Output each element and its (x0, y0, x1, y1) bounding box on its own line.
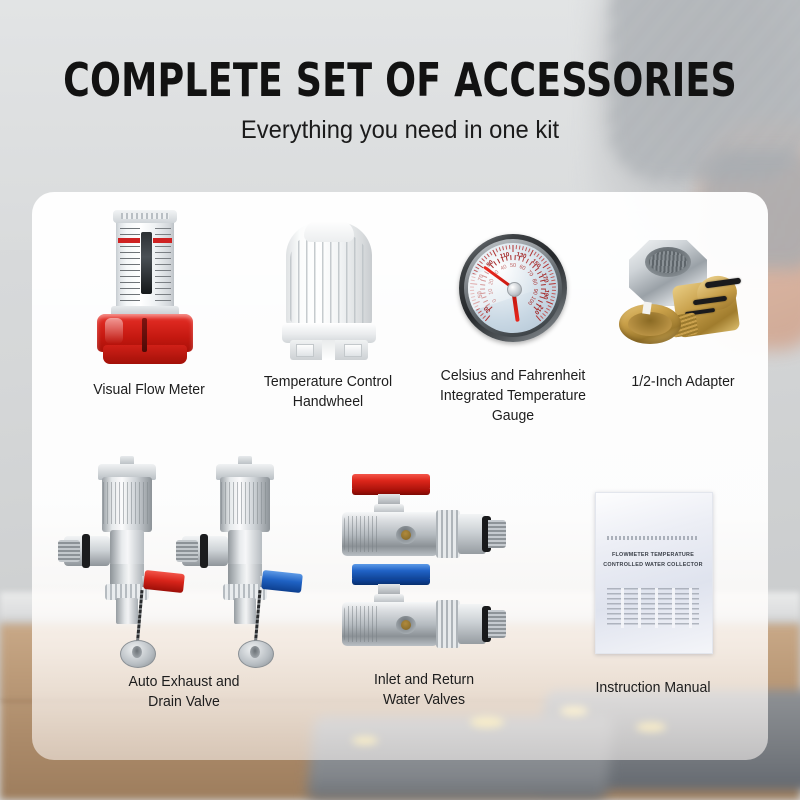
manual-title-line-1: FLOWMETER TEMPERATURE (603, 552, 703, 558)
caption-line: Auto Exhaust and (60, 672, 308, 692)
caption-line: Handwheel (247, 392, 410, 412)
heading-block: COMPLETE SET OF ACCESSORIES Everything y… (0, 0, 800, 145)
caption-line: 1/2-Inch Adapter (610, 372, 756, 392)
exhaust-valve-red (72, 464, 182, 664)
caption-line: Temperature Control (247, 372, 410, 392)
caption-line: Instruction Manual (551, 678, 755, 698)
product-inlet-return-water-valves[interactable]: Inlet and Return Water Valves (324, 466, 524, 710)
caption-line: Water Valves (327, 690, 521, 710)
caption-line: Gauge (427, 406, 600, 426)
temperature-control-handwheel-image (268, 220, 388, 360)
ball-valve-blue (338, 564, 508, 650)
product-visual-flow-meter[interactable]: Visual Flow Meter (70, 214, 228, 400)
auto-exhaust-drain-valve-image (56, 464, 312, 662)
caption-line: Inlet and Return (327, 670, 521, 690)
ball-valve-red (338, 474, 508, 560)
product-instruction-manual[interactable]: FLOWMETER TEMPERATURE CONTROLLED WATER C… (548, 492, 758, 698)
product-row-bottom: Auto Exhaust and Drain Valve (32, 464, 768, 734)
caption-line: Visual Flow Meter (72, 380, 225, 400)
product-temperature-gauge[interactable]: 3050709011013015017019021001020304050607… (424, 232, 602, 426)
page-title: COMPLETE SET OF ACCESSORIES (48, 0, 752, 104)
half-inch-adapter-image (613, 236, 753, 356)
product-half-inch-adapter[interactable]: 1/2-Inch Adapter (608, 236, 758, 392)
caption-line: Drain Valve (60, 692, 308, 712)
exhaust-valve-blue (190, 464, 300, 664)
caption-line: Celsius and Fahrenheit (427, 366, 600, 386)
manual-title-line-2: CONTROLLED WATER COLLECTOR (603, 562, 703, 568)
gauge-face: 3050709011013015017019021001020304050607… (468, 243, 558, 333)
product-temperature-control-handwheel[interactable]: Temperature Control Handwheel (244, 220, 412, 412)
visual-flow-meter-image (89, 214, 209, 364)
instruction-manual-image: FLOWMETER TEMPERATURE CONTROLLED WATER C… (595, 492, 711, 652)
product-auto-exhaust-drain-valve[interactable]: Auto Exhaust and Drain Valve (56, 464, 312, 712)
caption-line: Integrated Temperature (427, 386, 600, 406)
temperature-gauge-image: 3050709011013015017019021001020304050607… (453, 232, 573, 352)
accessories-card: Visual Flow Meter Temperature Control Ha… (32, 192, 768, 760)
gauge-hub (507, 282, 522, 297)
product-row-top: Visual Flow Meter Temperature Control Ha… (32, 214, 768, 454)
inlet-return-water-valves-image (324, 466, 524, 662)
page-subtitle: Everything you need in one kit (20, 104, 780, 145)
